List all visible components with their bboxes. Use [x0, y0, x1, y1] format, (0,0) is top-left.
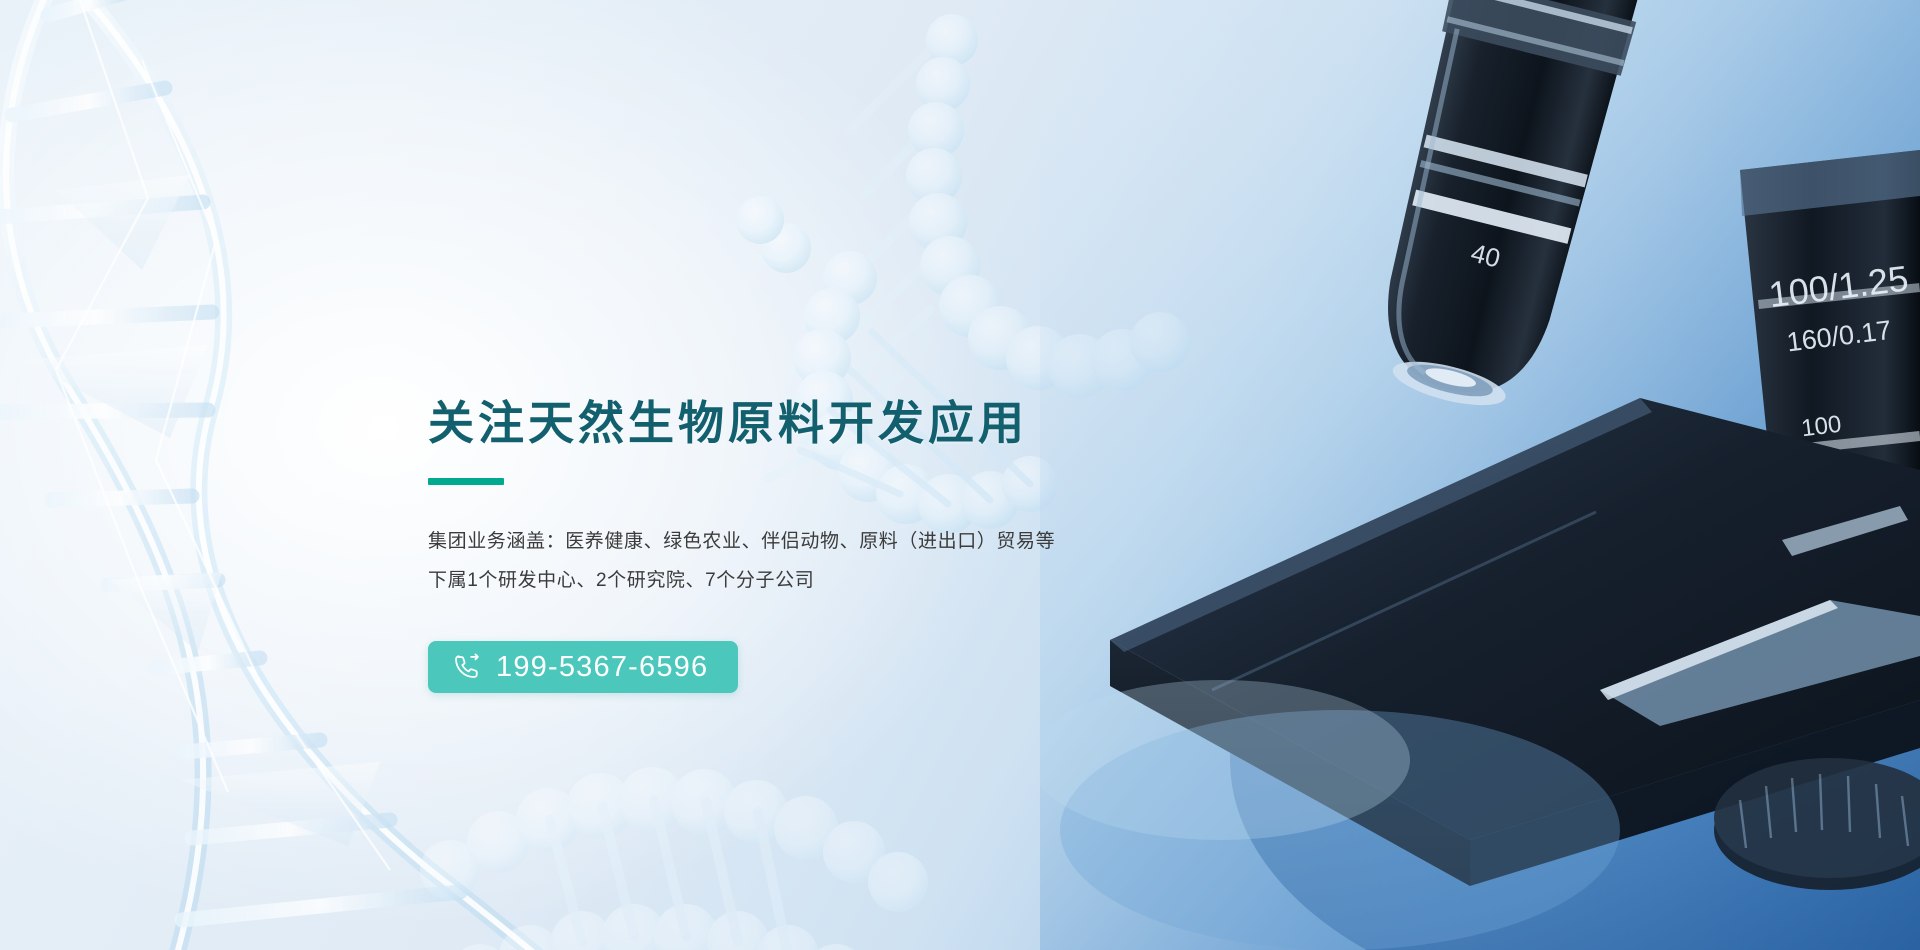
- phone-forward-icon: [452, 652, 482, 682]
- hero-description-line-2: 下属1个研发中心、2个研究院、7个分子公司: [428, 562, 1208, 601]
- title-accent-rule: [428, 478, 504, 485]
- page-title: 关注天然生物原料开发应用: [428, 396, 1208, 450]
- hero-banner: 100/1.25 160/0.17 100 40: [0, 0, 1920, 950]
- hero-description-line-1: 集团业务涵盖：医养健康、绿色农业、伴侣动物、原料（进出口）贸易等: [428, 523, 1208, 562]
- objective-label-100: 100: [1800, 411, 1843, 443]
- hero-content: 关注天然生物原料开发应用 集团业务涵盖：医养健康、绿色农业、伴侣动物、原料（进出…: [428, 396, 1208, 693]
- phone-cta-button[interactable]: 199-5367-6596: [428, 641, 738, 693]
- phone-number-label: 199-5367-6596: [496, 653, 708, 682]
- hero-description: 集团业务涵盖：医养健康、绿色农业、伴侣动物、原料（进出口）贸易等 下属1个研发中…: [428, 523, 1208, 601]
